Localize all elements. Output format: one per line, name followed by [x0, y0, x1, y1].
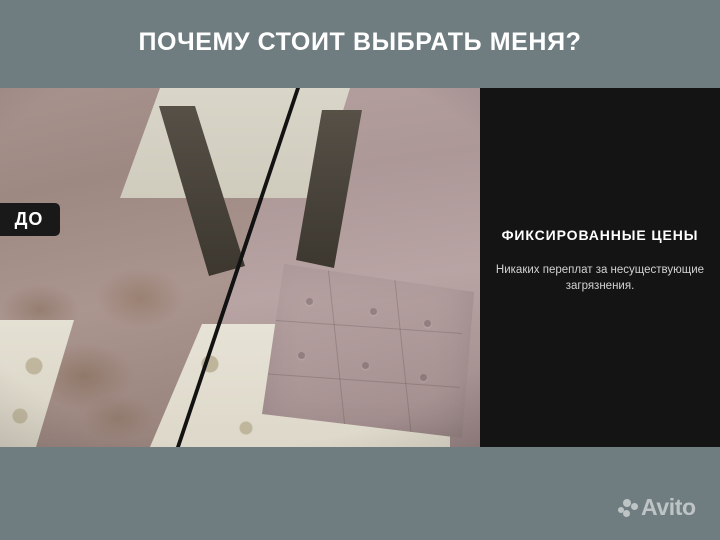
tuft-dimple [420, 374, 427, 381]
photo-clean-ottoman [262, 264, 474, 438]
seam-line [393, 270, 411, 433]
tuft-dimple [306, 298, 313, 305]
seam-line [327, 264, 345, 429]
tuft-dimple [370, 308, 377, 315]
badge-before: ДО [0, 203, 60, 236]
before-after-photo: ДО ПОСЛЕ [0, 88, 480, 447]
seam-line [262, 373, 460, 388]
slide-canvas: ПОЧЕМУ СТОИТ ВЫБРАТЬ МЕНЯ? ДО ПОСЛЕ [0, 0, 720, 540]
avito-wordmark: Avito [641, 496, 696, 519]
page-title: ПОЧЕМУ СТОИТ ВЫБРАТЬ МЕНЯ? [0, 27, 720, 57]
header-band: ПОЧЕМУ СТОИТ ВЫБРАТЬ МЕНЯ? [0, 0, 720, 88]
info-panel-heading: ФИКСИРОВАННЫЕ ЦЕНЫ [480, 227, 720, 243]
info-panel: ФИКСИРОВАННЫЕ ЦЕНЫ Никаких переплат за н… [480, 88, 720, 447]
tuft-dimple [362, 362, 369, 369]
avito-watermark: Avito [618, 496, 696, 519]
tuft-dimple [298, 352, 305, 359]
info-panel-body: Никаких переплат за несуществующие загря… [494, 262, 706, 294]
tuft-dimple [424, 320, 431, 327]
avito-dots-icon [618, 498, 638, 518]
seam-line [262, 319, 462, 334]
